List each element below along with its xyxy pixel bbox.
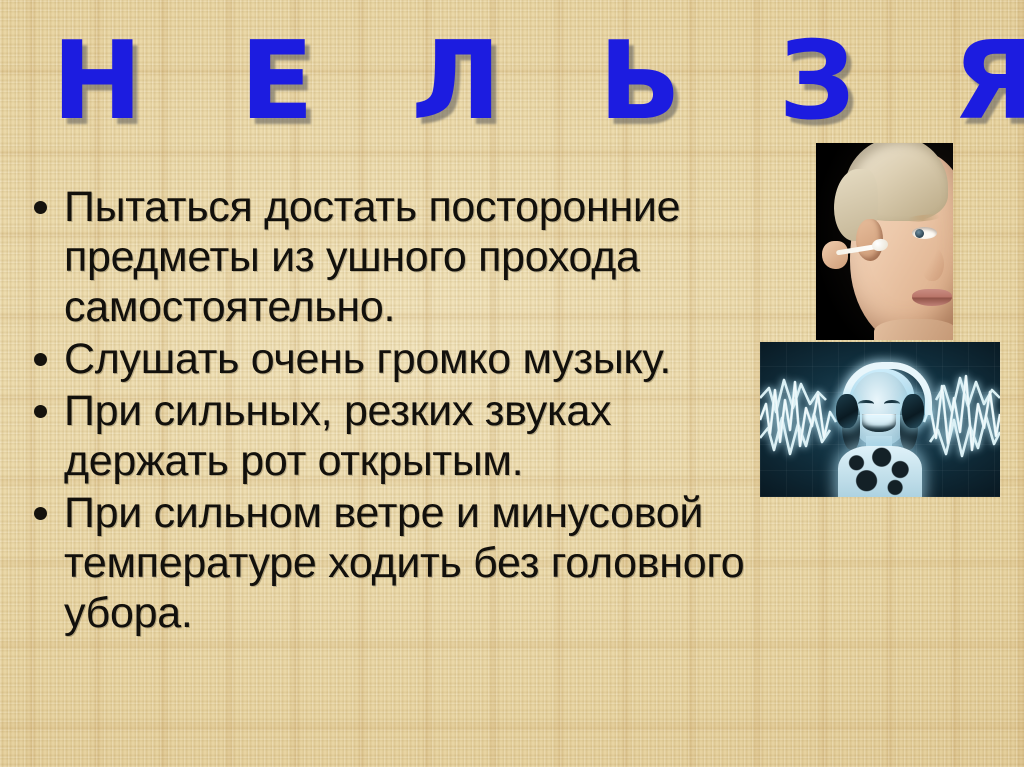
bullet-dot-icon [34, 405, 47, 418]
headphone-cup-left-icon [836, 394, 858, 428]
list-item: Слушать очень громко музыку. [18, 334, 858, 384]
bullet-line: температуре ходить без головного [64, 539, 744, 587]
neck-shape [874, 319, 953, 340]
bullet-dot-icon [34, 353, 47, 366]
lips-shape [912, 289, 952, 306]
bullet-line: Пытаться достать посторонние [64, 183, 680, 231]
person-figure [832, 364, 928, 496]
bullet-dot-icon [34, 201, 47, 214]
list-item: При сильных, резких звуках держать рот о… [18, 386, 858, 486]
photo-headphones-waveform [760, 342, 1000, 497]
iris-shape [915, 229, 924, 238]
headphone-cup-right-icon [902, 394, 924, 428]
nose-shape [922, 247, 944, 281]
bullet-dot-icon [34, 507, 47, 520]
bullet-line: самостоятельно. [64, 283, 395, 331]
bullet-line: убора. [64, 589, 193, 637]
bullet-line: При сильных, резких звуках [64, 387, 611, 435]
list-item: Пытаться достать посторонние предметы из… [18, 182, 858, 332]
bullet-line: При сильном ветре и минусовой [64, 489, 703, 537]
slide-canvas: Н Е Л Ь З Я : Пытаться достать посторонн… [0, 0, 1024, 767]
hand-shape [822, 241, 848, 269]
list-item: При сильном ветре и минусовой температур… [18, 488, 858, 638]
smile-shape [862, 414, 896, 432]
bullet-line: Слушать очень громко музыку. [64, 335, 671, 383]
page-title: Н Е Л Ь З Я : [52, 22, 982, 142]
torso-shape [838, 446, 922, 497]
warning-bullet-list: Пытаться достать посторонние предметы из… [18, 182, 858, 640]
bullet-line: предметы из ушного прохода [64, 233, 640, 281]
photo-ear-swab [816, 143, 953, 340]
bullet-line: держать рот открытым. [64, 437, 523, 485]
